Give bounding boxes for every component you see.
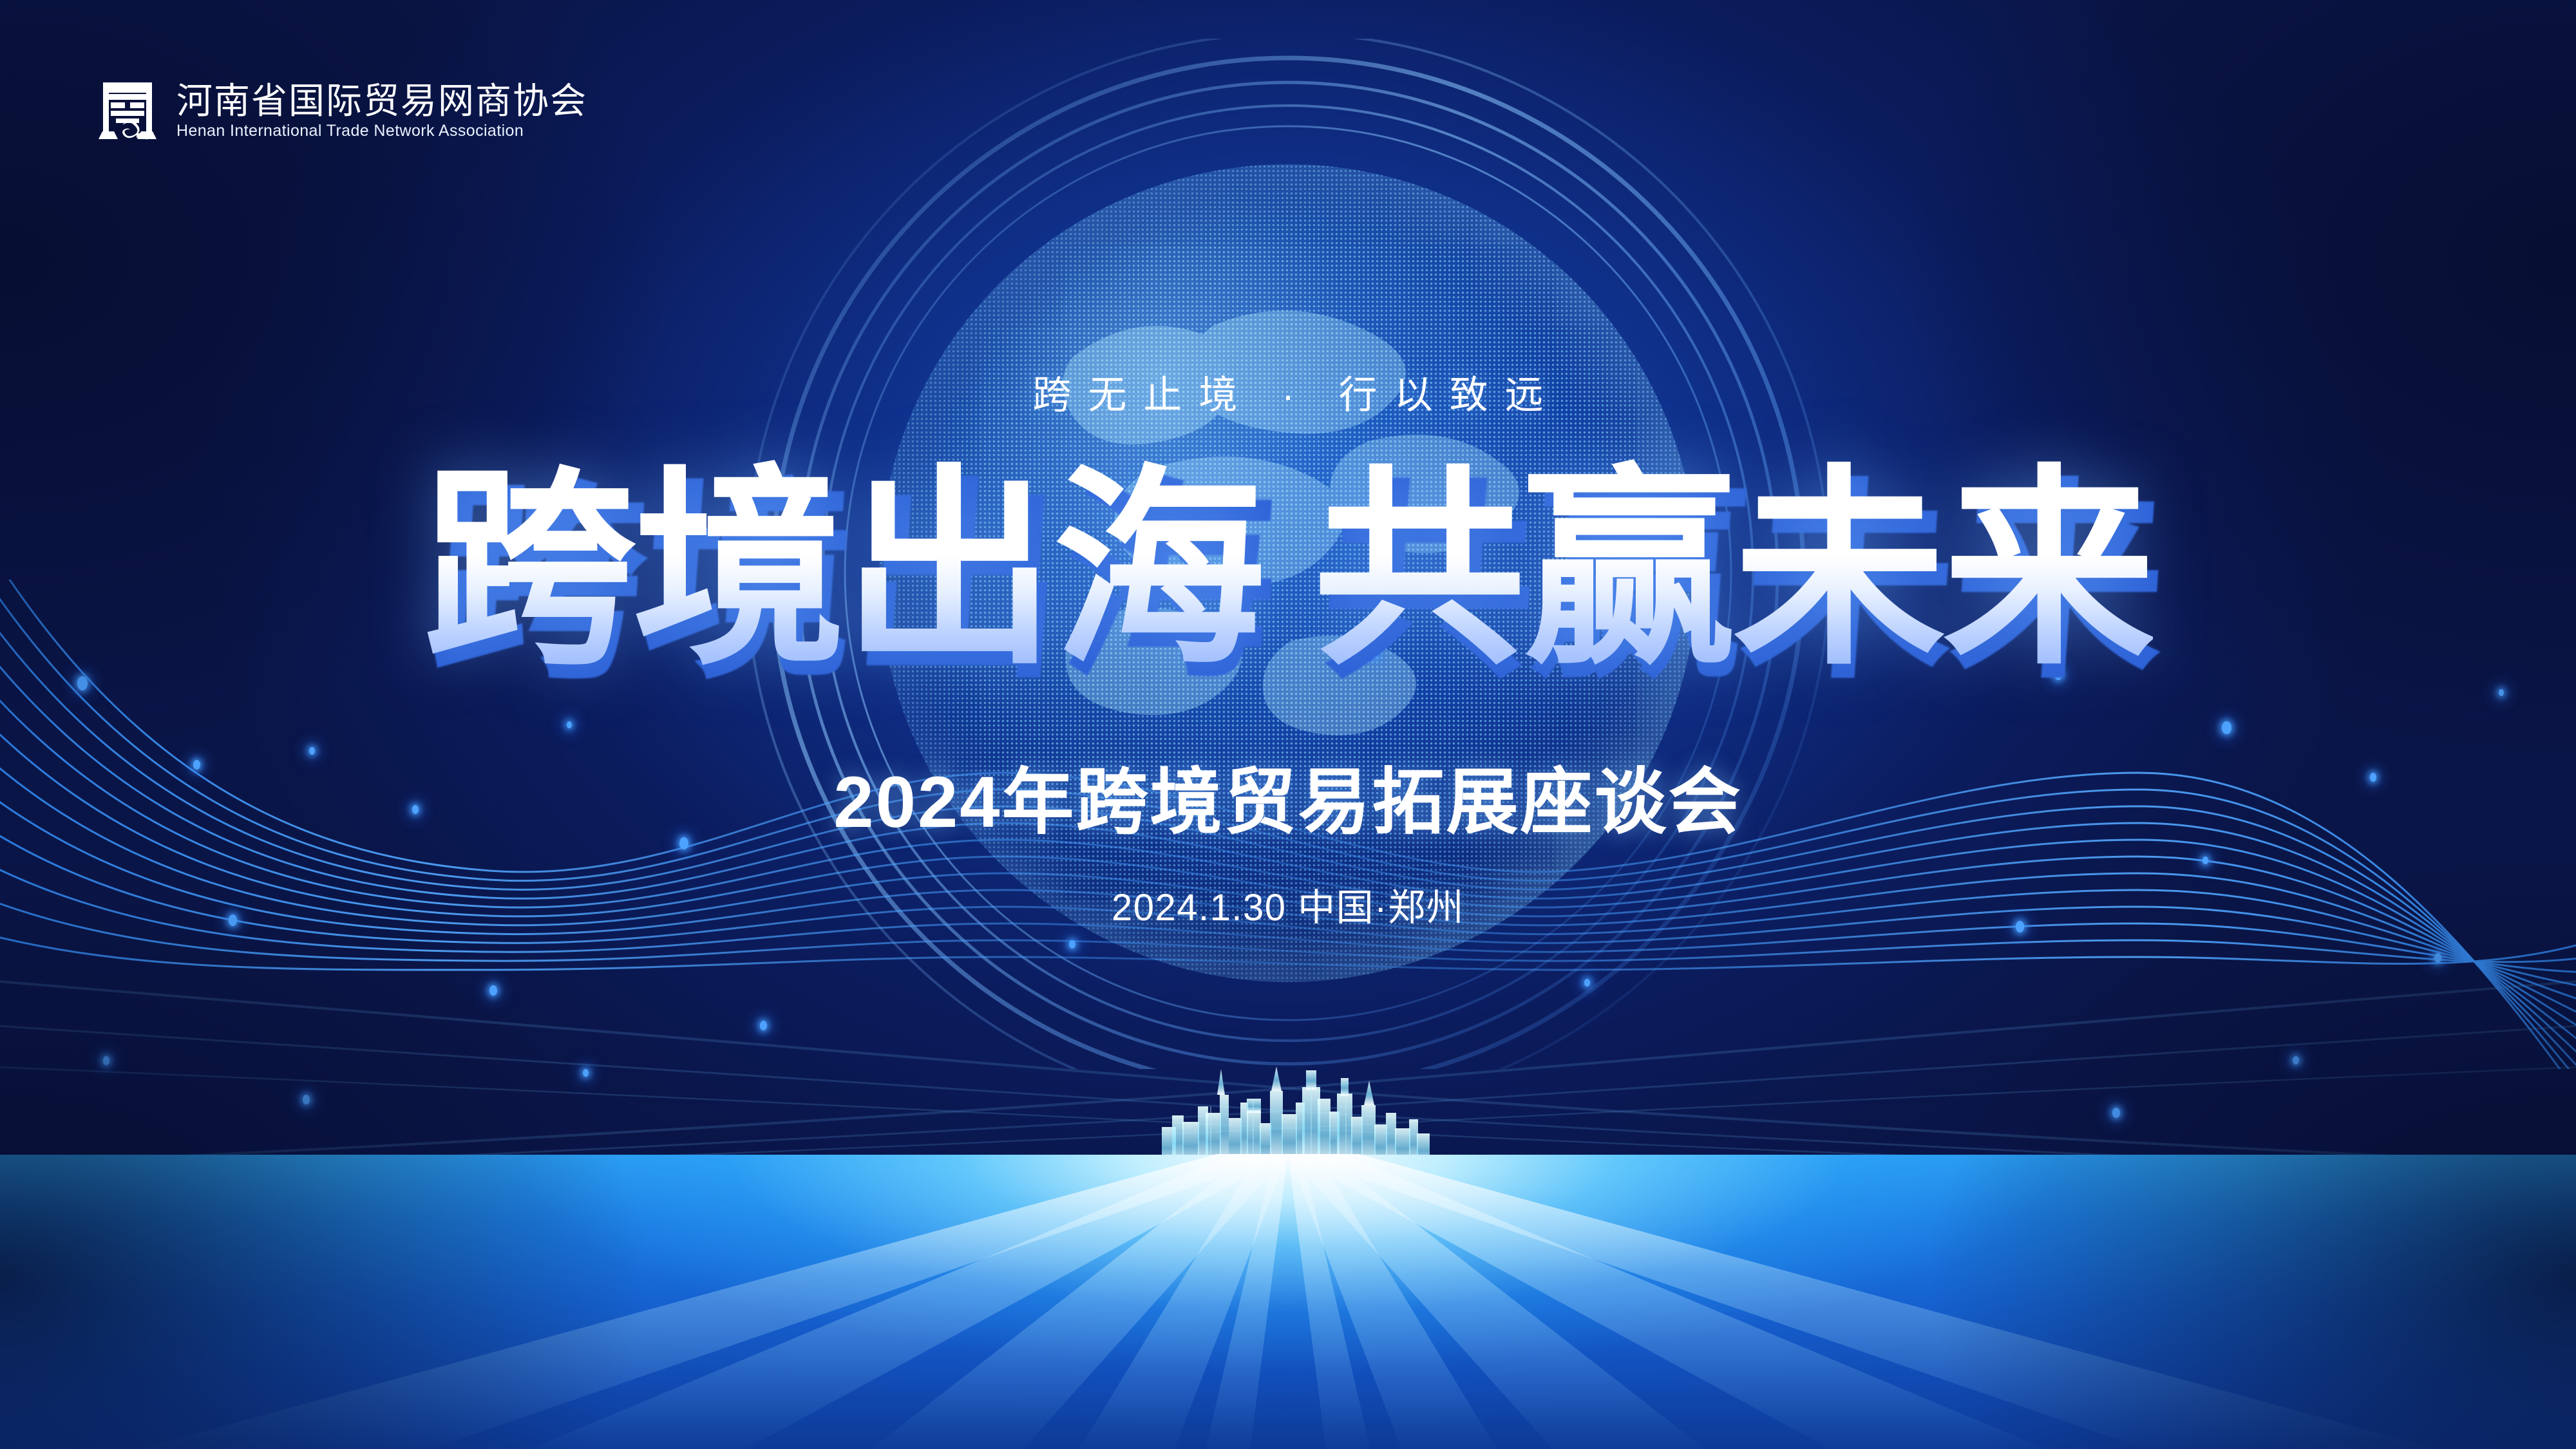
association-logo[interactable]: 河南省国际贸易网商协会 Henan International Trade Ne… (97, 77, 587, 144)
logo-name-en: Henan International Trade Network Associ… (176, 123, 587, 139)
henan-trade-seal-icon (97, 77, 158, 144)
headline-part2: 共赢未来 (1313, 451, 2153, 688)
hero-headline: 跨境出海共赢未来 跨境出海共赢未来 (0, 444, 2576, 695)
logo-name-cn: 河南省国际贸易网商协会 (176, 83, 587, 119)
headline-part1: 跨境出海 (423, 451, 1263, 688)
event-subtitle: 2024年跨境贸易拓展座谈会 (0, 744, 2576, 848)
headline-main-layer: 跨境出海共赢未来 (423, 451, 2153, 688)
radiating-light-rays-icon (0, 1095, 2576, 1449)
conference-banner: 河南省国际贸易网商协会 Henan International Trade Ne… (0, 0, 2576, 1449)
event-dateline: 2024.1.30 中国·郑州 (0, 877, 2576, 931)
hero-tagline: 跨无止境 · 行以致远 (0, 364, 2576, 420)
